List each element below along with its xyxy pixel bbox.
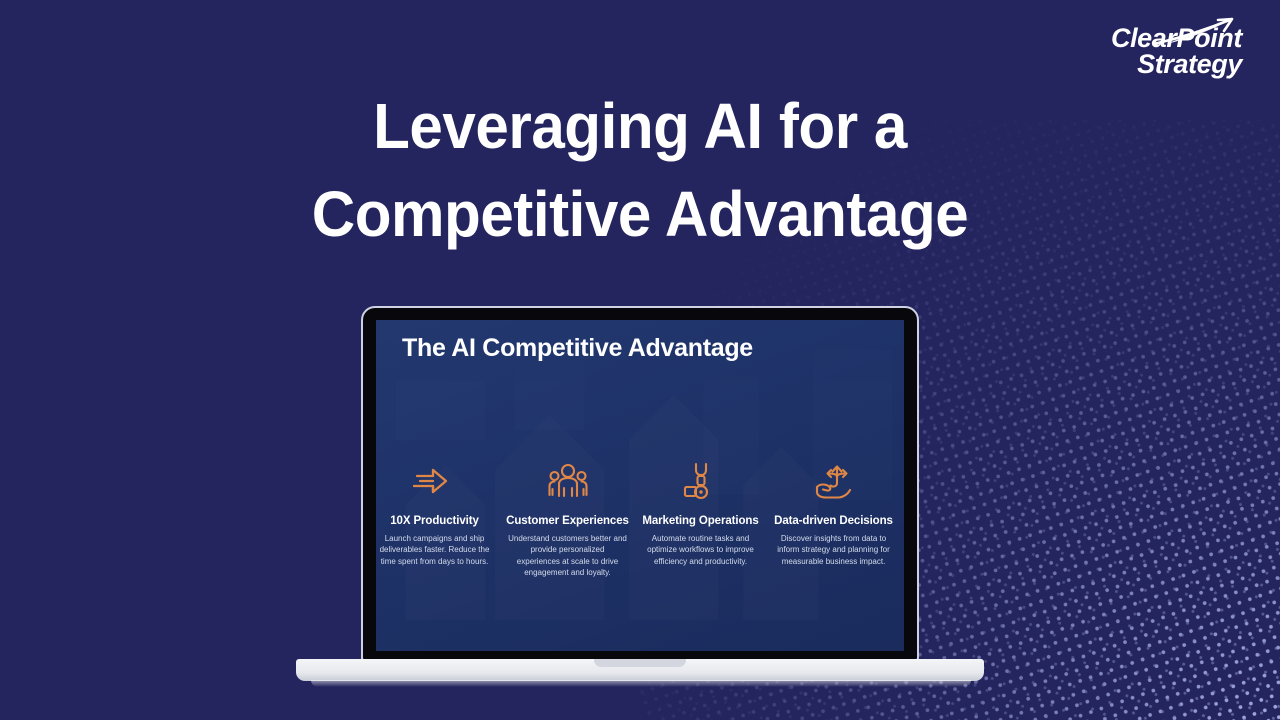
robot-arm-icon <box>638 458 763 504</box>
fast-forward-arrow-icon <box>376 458 497 504</box>
page-title-line2: Competitive Advantage <box>38 170 1241 258</box>
feature-title: Data-driven Decisions <box>771 515 896 527</box>
brand-logo: ClearPoint Strategy <box>1111 26 1242 78</box>
hand-with-arrows-icon <box>771 458 896 504</box>
laptop-base-shadow <box>311 680 971 687</box>
feature-description: Discover insights from data to inform st… <box>771 533 896 567</box>
feature-description: Launch campaigns and ship deliverables f… <box>376 533 497 567</box>
feature-column: 10X Productivity Launch campaigns and sh… <box>376 458 501 578</box>
brand-logo-line2: Strategy <box>1111 52 1242 78</box>
laptop-base-notch <box>594 659 686 667</box>
slide-feature-columns: 10X Productivity Launch campaigns and sh… <box>376 458 904 578</box>
feature-column: Marketing Operations Automate routine ta… <box>634 458 767 578</box>
page-title-line1: Leveraging AI for a <box>38 82 1241 170</box>
slide-title: The AI Competitive Advantage <box>376 320 904 363</box>
feature-column: Customer Experiences Understand customer… <box>501 458 634 578</box>
feature-description: Automate routine tasks and optimize work… <box>638 533 763 567</box>
feature-title: 10X Productivity <box>376 515 497 527</box>
page-title: Leveraging AI for a Competitive Advantag… <box>38 82 1241 259</box>
people-group-icon <box>505 458 630 504</box>
laptop-mockup: The AI Competitive Advantage <box>361 306 919 661</box>
laptop-base <box>296 659 984 681</box>
presentation-slide: The AI Competitive Advantage <box>376 320 904 651</box>
swoosh-arrow-icon <box>1152 17 1238 47</box>
laptop-lid: The AI Competitive Advantage <box>361 306 919 661</box>
feature-description: Understand customers better and provide … <box>505 533 630 578</box>
feature-title: Customer Experiences <box>505 515 630 527</box>
feature-title: Marketing Operations <box>638 515 763 527</box>
feature-column: Data-driven Decisions Discover insights … <box>767 458 900 578</box>
